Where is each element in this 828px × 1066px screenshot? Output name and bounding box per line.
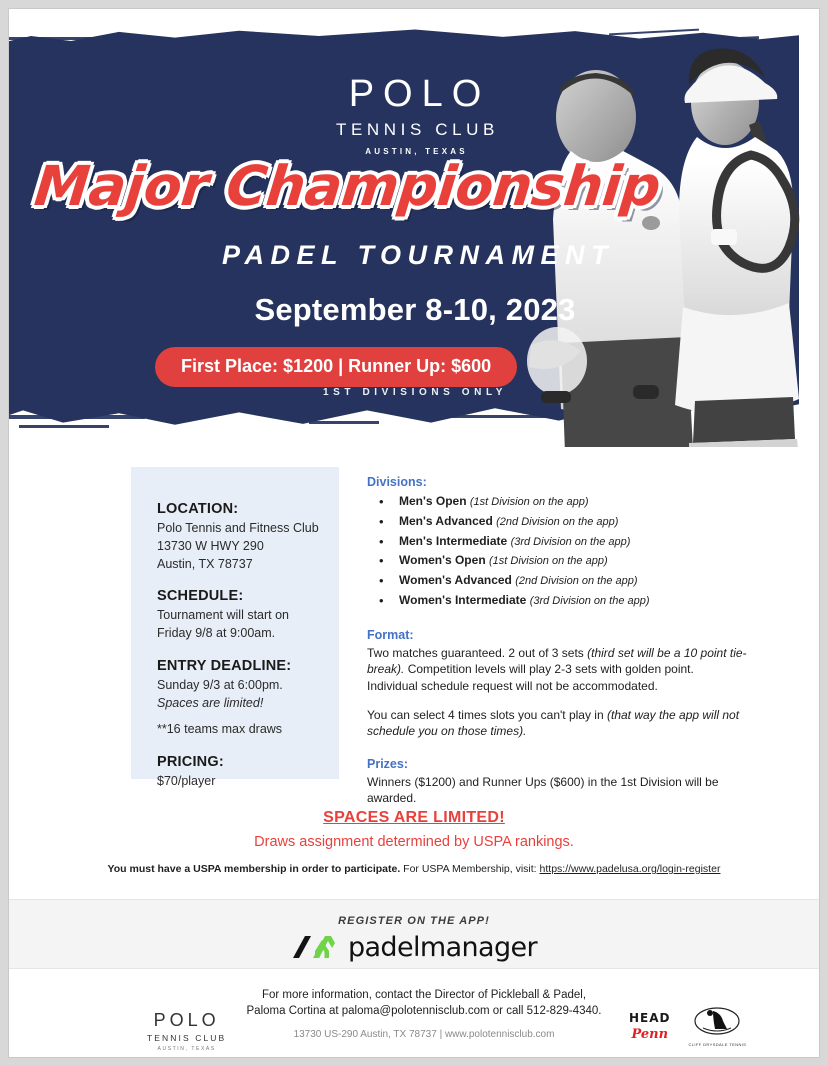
- division-name: Women's Open: [399, 553, 486, 567]
- format-text-a: Two matches guaranteed. 2 out of 3 sets: [367, 646, 587, 660]
- footer-polo-logo: POLO TENNIS CLUB AUSTIN, TEXAS: [147, 1011, 226, 1052]
- schedule-heading: SCHEDULE:: [157, 588, 339, 604]
- prizes-heading: Prizes:: [367, 757, 747, 771]
- location-line-1: Polo Tennis and Fitness Club: [157, 520, 339, 538]
- divisions-only-label: 1ST DIVISIONS ONLY: [9, 387, 820, 398]
- schedule-line-1: Tournament will start on: [157, 607, 339, 625]
- brush-stroke: [309, 421, 379, 424]
- footer-address-line: 13730 US-290 Austin, TX 78737 | www.polo…: [239, 1029, 609, 1040]
- list-item: Women's Intermediate (3rd Division on th…: [371, 591, 747, 611]
- register-on-app-label: REGISTER ON THE APP!: [9, 915, 819, 927]
- brush-stroke: [19, 425, 109, 428]
- padelmanager-mark-icon: [291, 934, 337, 962]
- division-name: Men's Advanced: [399, 514, 493, 528]
- cliff-drysdale-caption: CLIFF DRYSDALE TENNIS: [689, 1042, 747, 1047]
- format-paragraph-1: Two matches guaranteed. 2 out of 3 sets …: [367, 645, 747, 695]
- list-item: Women's Advanced (2nd Division on the ap…: [371, 571, 747, 591]
- format-text-b: Competition levels will play 2-3 sets wi…: [367, 662, 694, 693]
- division-name: Women's Intermediate: [399, 593, 526, 607]
- entry-deadline-date: Sunday 9/3 at 6:00pm.: [157, 677, 339, 695]
- division-note: (3rd Division on the app): [511, 536, 631, 548]
- title-major-championship: Major Championship: [32, 154, 664, 218]
- format-heading: Format:: [367, 628, 747, 642]
- division-note: (1st Division on the app): [489, 555, 608, 567]
- list-item: Men's Advanced (2nd Division on the app): [371, 512, 747, 532]
- footer-sponsor-logos: HEAD Penn CLIFF DRYSDALE TENNIS: [629, 1006, 746, 1047]
- format2-text-a: You can select 4 times slots you can't p…: [367, 708, 607, 722]
- entry-deadline-heading: ENTRY DEADLINE:: [157, 658, 339, 674]
- hero-banner: POLO TENNIS CLUB AUSTIN, TEXAS Major Cha…: [9, 17, 820, 447]
- max-draws-note: **16 teams max draws: [157, 721, 339, 739]
- draws-ranking-notice: Draws assignment determined by USPA rank…: [9, 834, 819, 850]
- location-line-3: Austin, TX 78737: [157, 556, 339, 574]
- event-info-box: LOCATION: Polo Tennis and Fitness Club 1…: [131, 467, 339, 779]
- divisions-list: Men's Open (1st Division on the app) Men…: [371, 492, 747, 611]
- polo-club-logo: POLO TENNIS CLUB AUSTIN, TEXAS: [9, 75, 820, 156]
- cliff-drysdale-logo: CLIFF DRYSDALE TENNIS: [689, 1006, 747, 1047]
- divisions-heading: Divisions:: [367, 475, 747, 489]
- pricing-heading: PRICING:: [157, 754, 339, 770]
- head-penn-logo: HEAD Penn: [629, 1011, 671, 1042]
- list-item: Men's Open (1st Division on the app): [371, 492, 747, 512]
- location-heading: LOCATION:: [157, 501, 339, 517]
- brush-stroke: [9, 44, 123, 46]
- padelmanager-wordmark: padelmanager: [348, 932, 537, 963]
- logo-tennis-club-text: TENNIS CLUB: [9, 120, 820, 140]
- entry-spaces-note: Spaces are limited!: [157, 695, 339, 713]
- membership-required-text: You must have a USPA membership in order…: [108, 863, 401, 875]
- membership-notice: You must have a USPA membership in order…: [9, 863, 819, 875]
- division-note: (2nd Division on the app): [515, 575, 637, 587]
- division-name: Men's Open: [399, 494, 467, 508]
- format-paragraph-2: You can select 4 times slots you can't p…: [367, 707, 747, 740]
- division-name: Men's Intermediate: [399, 534, 507, 548]
- contact-line-1: For more information, contact the Direct…: [239, 987, 609, 1003]
- division-name: Women's Advanced: [399, 573, 512, 587]
- footer-contact-block: For more information, contact the Direct…: [239, 987, 609, 1040]
- pricing-value: $70/player: [157, 773, 339, 791]
- contact-line-2: Paloma Cortina at paloma@polotennisclub.…: [239, 1003, 609, 1019]
- uspa-membership-link[interactable]: https://www.padelusa.org/login-register: [540, 863, 721, 875]
- tournament-date: September 8-10, 2023: [9, 292, 820, 328]
- footer-logo-tennis-club: TENNIS CLUB: [147, 1033, 226, 1043]
- footer-logo-austin: AUSTIN, TEXAS: [147, 1046, 226, 1052]
- flyer-page: POLO TENNIS CLUB AUSTIN, TEXAS Major Cha…: [8, 8, 820, 1058]
- membership-visit-text: For USPA Membership, visit:: [400, 863, 539, 875]
- brush-stroke: [9, 415, 145, 419]
- padelmanager-logo[interactable]: padelmanager: [9, 932, 819, 963]
- division-note: (1st Division on the app): [470, 496, 589, 508]
- spaces-limited-notice: SPACES ARE LIMITED!: [9, 809, 819, 827]
- title-padel-tournament: PADEL TOURNAMENT: [9, 240, 820, 271]
- division-note: (3rd Division on the app): [530, 595, 650, 607]
- cliff-drysdale-mark-icon: [693, 1006, 741, 1036]
- list-item: Women's Open (1st Division on the app): [371, 551, 747, 571]
- location-line-2: 13730 W HWY 290: [157, 538, 339, 556]
- head-wordmark: HEAD: [629, 1011, 671, 1025]
- division-note: (2nd Division on the app): [496, 516, 618, 528]
- prizes-text: Winners ($1200) and Runner Ups ($600) in…: [367, 774, 747, 807]
- brush-stroke: [9, 37, 165, 40]
- details-column: Divisions: Men's Open (1st Division on t…: [367, 475, 747, 807]
- schedule-line-2: Friday 9/8 at 9:00am.: [157, 625, 339, 643]
- logo-polo-text: POLO: [9, 75, 820, 113]
- footer-logo-polo: POLO: [147, 1011, 226, 1029]
- penn-wordmark: Penn: [629, 1027, 671, 1042]
- list-item: Men's Intermediate (3rd Division on the …: [371, 532, 747, 552]
- prize-badge: First Place: $1200 | Runner Up: $600: [155, 347, 517, 387]
